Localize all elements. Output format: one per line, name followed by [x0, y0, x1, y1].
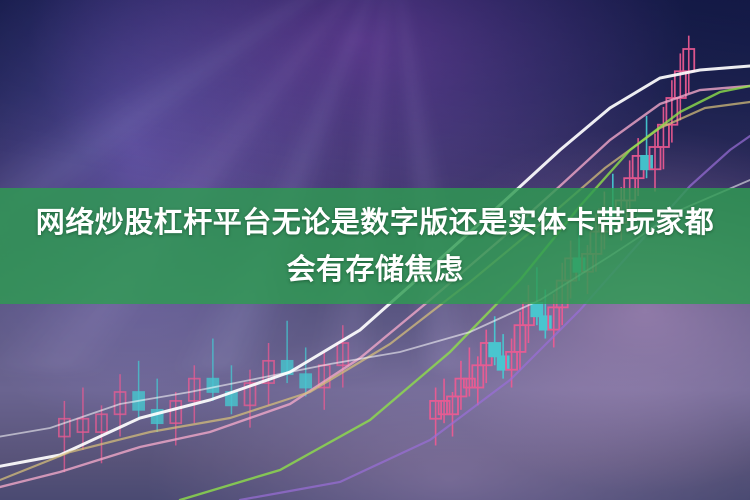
banner-image: 网络炒股杠杆平台无论是数字版还是实体卡带玩家都会有存储焦虑: [0, 0, 750, 500]
page-title: 网络炒股杠杆平台无论是数字版还是实体卡带玩家都会有存储焦虑: [25, 199, 725, 293]
title-banner: 网络炒股杠杆平台无论是数字版还是实体卡带玩家都会有存储焦虑: [0, 188, 750, 304]
